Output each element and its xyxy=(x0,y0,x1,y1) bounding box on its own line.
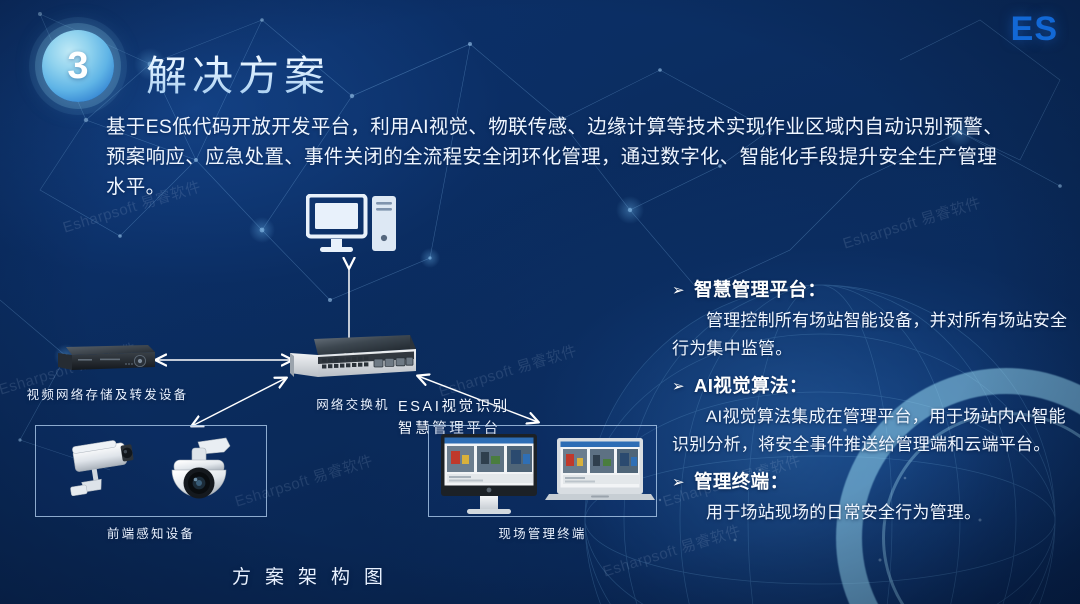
feature-body-0: 管理控制所有场站智能设备，并对所有场站安全行为集中监管。 xyxy=(672,307,1072,363)
step-number-badge: 3 xyxy=(42,30,114,102)
feature-title-1: ➢ AI视觉算法： xyxy=(672,372,1072,398)
feature-title-2: ➢ 管理终端： xyxy=(672,468,1072,494)
storage-device xyxy=(56,344,158,381)
node-label-terminals: 现场管理终端 xyxy=(428,523,657,542)
network-switch xyxy=(288,333,418,396)
chevron-right-icon: ➢ xyxy=(672,377,685,395)
feature-title-text: 管理终端： xyxy=(694,468,789,494)
feature-title-0: ➢ 智慧管理平台： xyxy=(672,276,1072,302)
desktop-laptop-icon xyxy=(429,426,656,516)
front-end-sensors-box xyxy=(35,425,267,517)
node-label-switch: 网络交换机 xyxy=(288,394,418,413)
network-switch-icon xyxy=(288,333,418,391)
architecture-diagram: ESAI视觉识别 智慧管理平台 xyxy=(0,180,660,604)
node-label-storage: 视频网络存储及转发设备 xyxy=(0,384,215,403)
platform-icon xyxy=(306,194,398,261)
feature-title-text: 智慧管理平台： xyxy=(694,276,826,302)
slide-root: Esharpsoft 易睿软件 Esharpsoft 易睿软件 Esharpso… xyxy=(0,0,1080,604)
nvr-device-icon xyxy=(56,344,158,376)
feature-body-1: AI视觉算法集成在管理平台，用于场站内AI智能识别分析，将安全事件推送给管理端和… xyxy=(672,403,1072,459)
site-terminals-box xyxy=(428,425,657,517)
diagram-caption: 方案架构图 xyxy=(232,562,397,589)
features-list: ➢ 智慧管理平台： 管理控制所有场站智能设备，并对所有场站安全行为集中监管。 ➢… xyxy=(672,276,1072,536)
chevron-right-icon: ➢ xyxy=(672,281,685,299)
node-label-sensors: 前端感知设备 xyxy=(35,523,267,542)
page-title: 解决方案 xyxy=(146,42,330,102)
feature-title-text: AI视觉算法： xyxy=(694,372,808,398)
brand-logo: ES xyxy=(1011,10,1058,49)
cctv-cameras-icon xyxy=(36,426,266,516)
feature-body-2: 用于场站现场的日常安全行为管理。 xyxy=(672,499,1072,527)
chevron-right-icon: ➢ xyxy=(672,473,685,491)
desktop-tower-icon xyxy=(306,194,398,256)
step-number-value: 3 xyxy=(67,47,88,85)
